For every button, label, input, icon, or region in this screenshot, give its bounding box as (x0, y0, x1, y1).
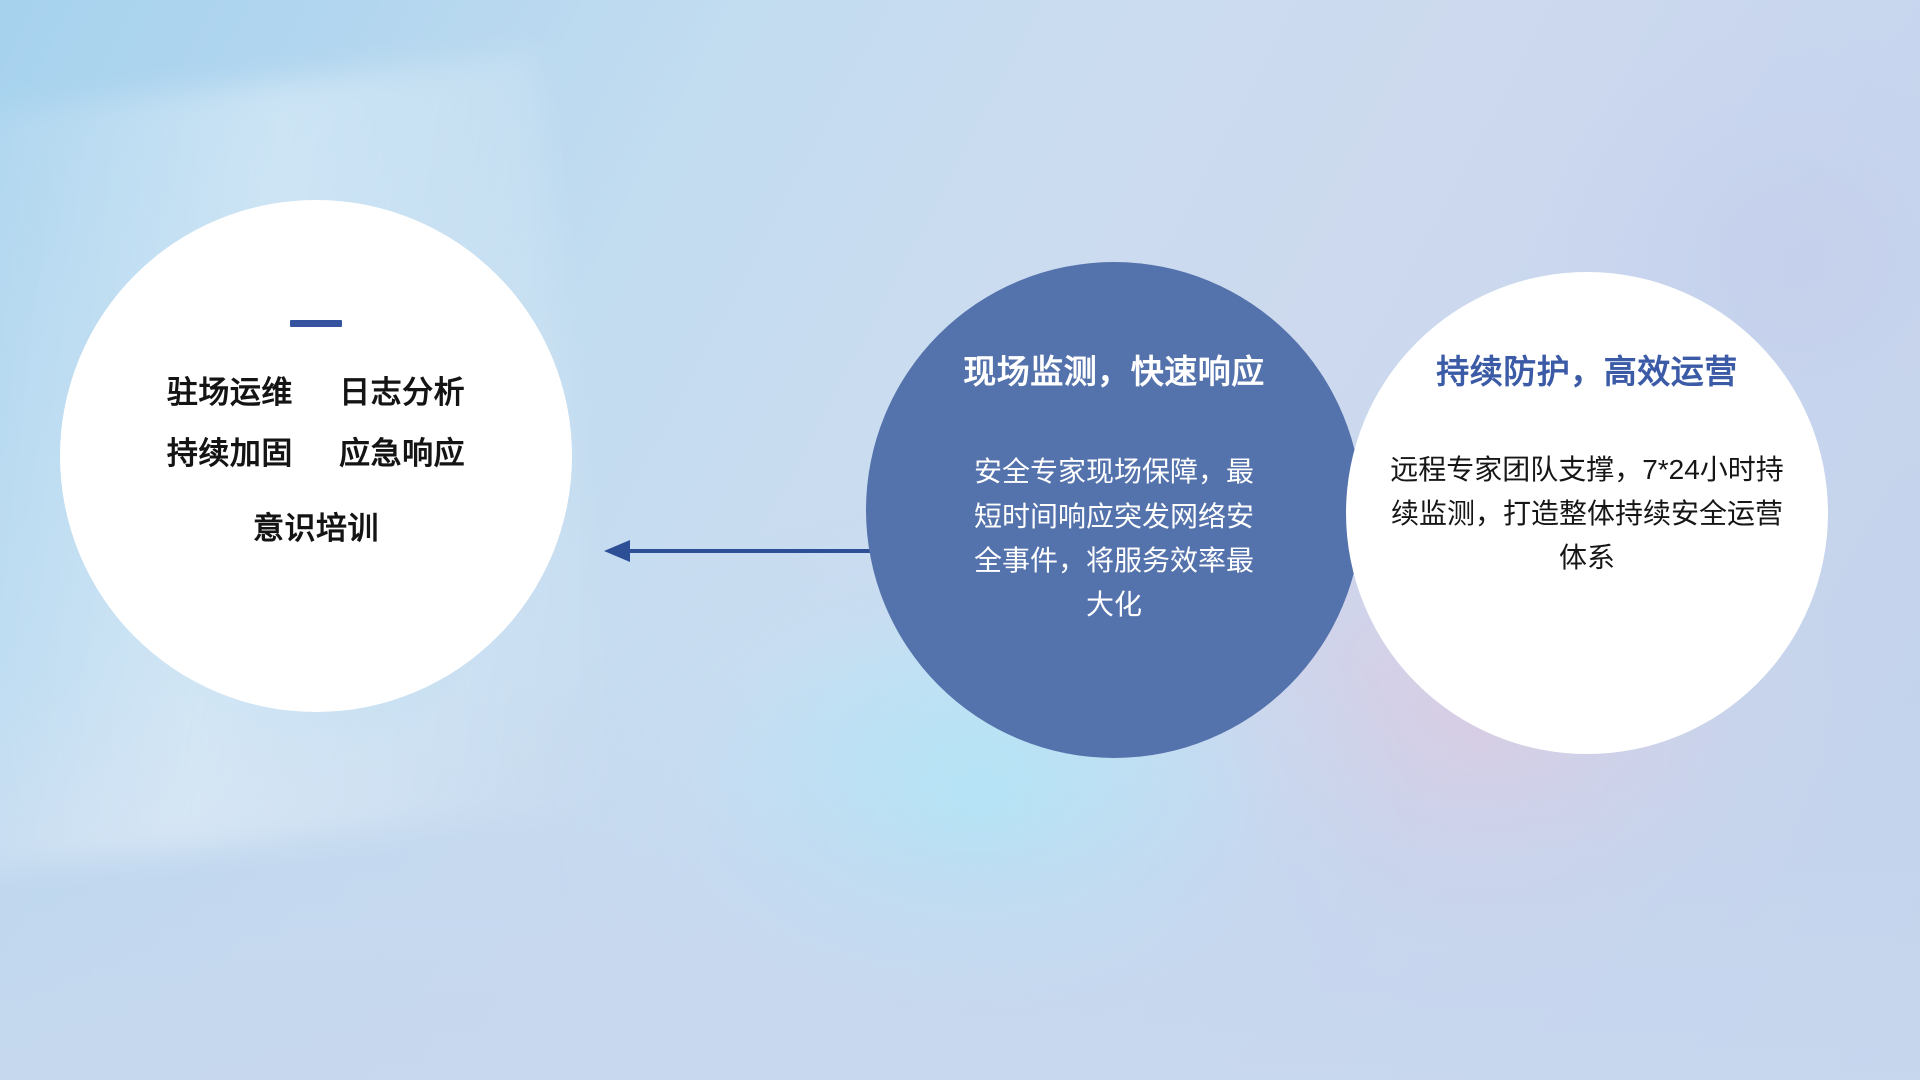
onsite-monitoring-circle[interactable]: 现场监测，快速响应 安全专家现场保障，最短时间响应突发网络安全事件，将服务效率最… (866, 262, 1362, 758)
arrow-left-icon (600, 520, 900, 582)
keyword-log-analysis: 日志分析 (339, 375, 465, 410)
keyword-row-2: 持续加固 应急响应 (167, 438, 465, 469)
keyword-onsite-ops: 驻场运维 (167, 375, 293, 410)
keyword-awareness-training: 意识培训 (253, 513, 379, 544)
slide-canvas: 驻场运维 日志分析 持续加固 应急响应 意识培训 现场监测，快速响应 安全专家现… (0, 0, 1920, 1080)
keyword-emergency-response: 应急响应 (339, 436, 465, 471)
continuous-protection-circle[interactable]: 持续防护，高效运营 远程专家团队支撑，7*24小时持续监测，打造整体持续安全运营… (1346, 272, 1828, 754)
keyword-continuous-hardening: 持续加固 (167, 436, 293, 471)
continuous-protection-title: 持续防护，高效运营 (1436, 354, 1738, 390)
capabilities-circle[interactable]: 驻场运维 日志分析 持续加固 应急响应 意识培训 (60, 200, 572, 712)
keyword-row-1: 驻场运维 日志分析 (167, 377, 465, 408)
onsite-monitoring-body: 安全专家现场保障，最短时间响应突发网络安全事件，将服务效率最大化 (964, 450, 1264, 627)
divider-dash (290, 320, 342, 327)
onsite-monitoring-title: 现场监测，快速响应 (963, 354, 1265, 390)
continuous-protection-body: 远程专家团队支撑，7*24小时持续监测，打造整体持续安全运营体系 (1385, 448, 1789, 579)
